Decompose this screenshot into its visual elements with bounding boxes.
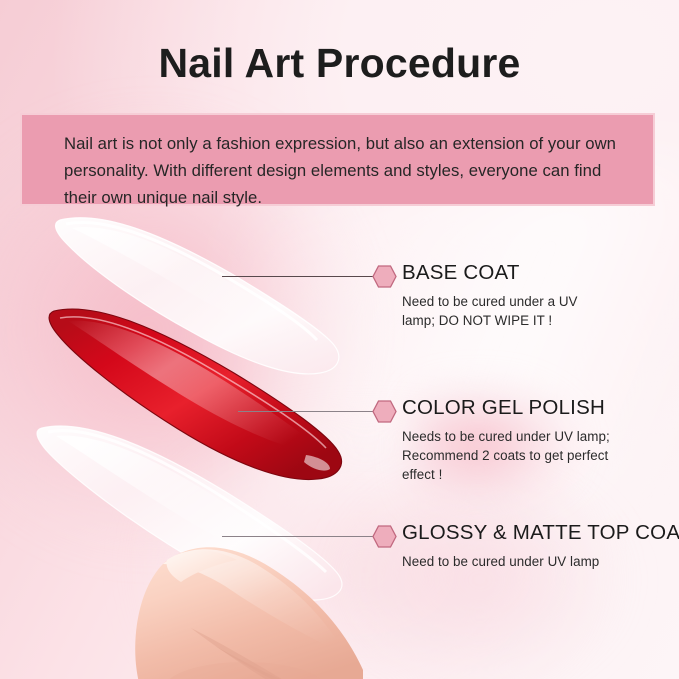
- callout-top-coat[interactable]: GLOSSY & MATTE TOP COAT Need to be cured…: [402, 523, 679, 571]
- leader-line-base-coat: [222, 276, 374, 277]
- callout-description: Need to be cured under UV lamp: [402, 552, 652, 571]
- leader-line-top-coat: [222, 536, 374, 537]
- callout-title: GLOSSY & MATTE TOP COAT: [402, 523, 679, 544]
- hexagon-marker-top-coat: [372, 525, 397, 548]
- intro-box: Nail art is not only a fashion expressio…: [20, 113, 655, 206]
- callout-color-gel-polish[interactable]: COLOR GEL POLISH Needs to be cured under…: [402, 398, 618, 484]
- intro-text: Nail art is not only a fashion expressio…: [64, 130, 624, 212]
- fingertip: [95, 520, 405, 679]
- callout-description: Needs to be cured under UV lamp; Recomme…: [402, 427, 618, 484]
- hexagon-marker-base-coat: [372, 265, 397, 288]
- hexagon-marker-color-gel: [372, 400, 397, 423]
- leader-line-color-gel: [238, 411, 374, 412]
- nail-art-infographic: BASE COAT Need to be cured under a UV la…: [0, 0, 679, 679]
- page-title: Nail Art Procedure: [0, 41, 679, 85]
- callout-description: Need to be cured under a UV lamp; DO NOT…: [402, 292, 614, 330]
- callout-base-coat[interactable]: BASE COAT Need to be cured under a UV la…: [402, 263, 614, 330]
- callout-title: COLOR GEL POLISH: [402, 398, 618, 419]
- callout-title: BASE COAT: [402, 263, 614, 284]
